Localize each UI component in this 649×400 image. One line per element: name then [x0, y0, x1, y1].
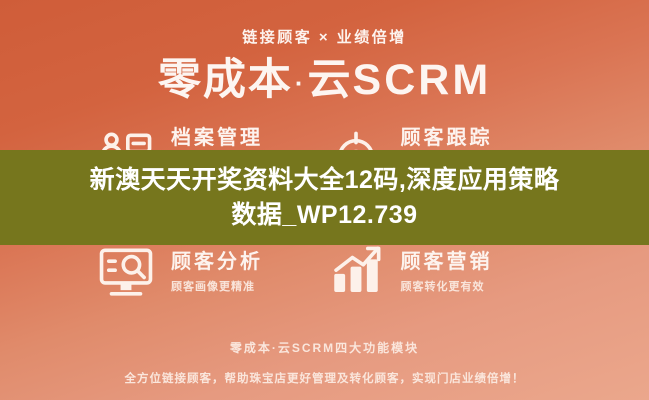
module-marketing-name: 顾客营销: [401, 250, 493, 274]
module-marketing-desc: 顾客转化更有效: [401, 281, 493, 294]
footer-line-1: 零成本·云SCRM四大功能模块: [230, 339, 419, 356]
module-marketing-text: 顾客营销 顾客转化更有效: [401, 250, 493, 294]
module-tracking-name: 顾客跟踪: [401, 126, 493, 150]
brand-latin: SCRM: [353, 56, 492, 104]
brand-title: 零成本·云SCRM: [158, 59, 491, 102]
module-analysis-name: 顾客分析: [171, 250, 263, 274]
overlay-caption-line-2: 数据_WP12.739: [231, 198, 417, 233]
header-tagline: 链接顾客 × 业绩倍增: [242, 30, 407, 45]
bar-chart-growth-icon: [325, 241, 387, 303]
brand-prefix: 零成本: [158, 56, 293, 104]
overlay-caption-line-1: 新澳天天开奖资料大全12码,深度应用策略: [90, 163, 560, 198]
promo-poster: 链接顾客 × 业绩倍增 零成本·云SCRM 档案管理 顾客信息: [0, 0, 649, 400]
footer-line-2: 全方位链接顾客，帮助珠宝店更好管理及转化顾客，实现门店业绩倍增！: [125, 370, 525, 386]
module-archive-name: 档案管理: [171, 126, 263, 150]
brand-cloud: 云: [308, 56, 353, 104]
poster-footer: 零成本·云SCRM四大功能模块 全方位链接顾客，帮助珠宝店更好管理及转化顾客，实…: [0, 339, 649, 386]
poster-header: 链接顾客 × 业绩倍增 零成本·云SCRM: [0, 0, 649, 118]
overlay-caption: 新澳天天开奖资料大全12码,深度应用策略 数据_WP12.739: [0, 150, 649, 245]
module-analysis-desc: 顾客画像更精准: [171, 281, 263, 294]
module-analysis-text: 顾客分析 顾客画像更精准: [171, 250, 263, 294]
brand-separator: ·: [293, 68, 308, 98]
monitor-analysis-icon: [95, 241, 157, 303]
